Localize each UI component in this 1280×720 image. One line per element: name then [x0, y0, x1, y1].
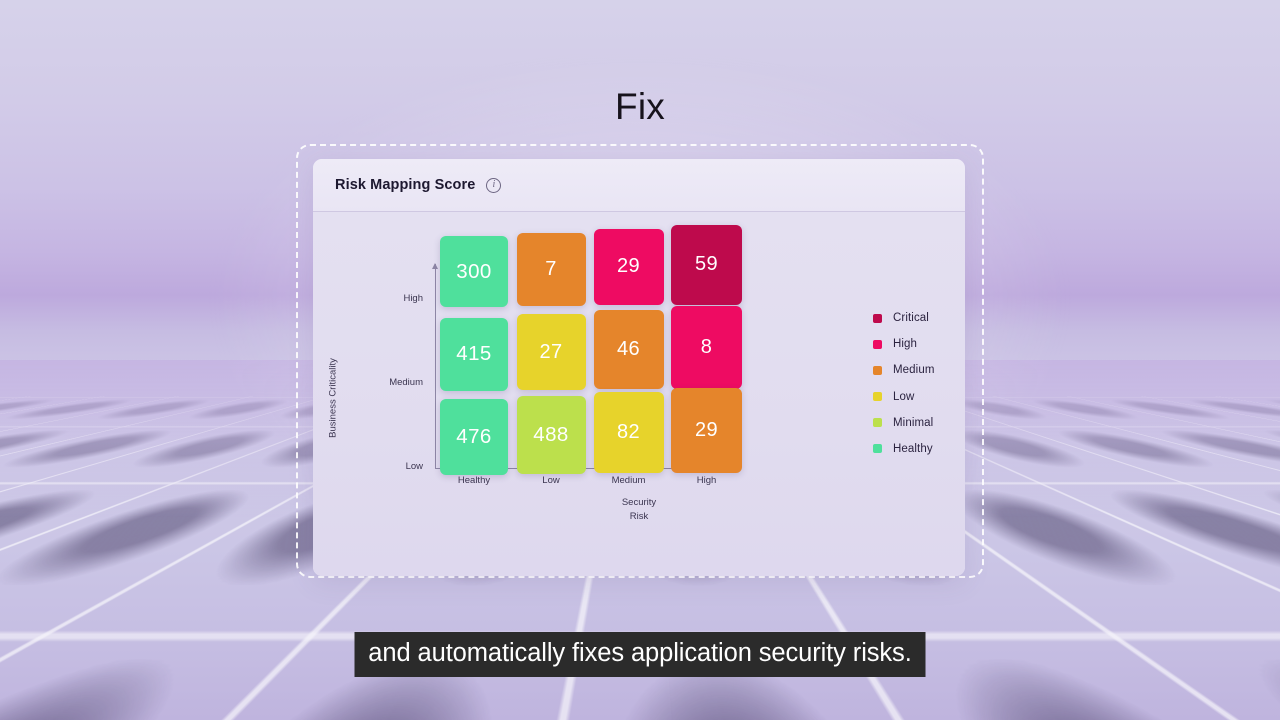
y-axis-line: [435, 264, 436, 468]
legend-item[interactable]: Medium: [873, 364, 935, 376]
legend-item-label: Low: [893, 391, 914, 403]
card-header: Risk Mapping Score i: [313, 159, 965, 212]
legend-swatch-icon: [873, 340, 882, 349]
heatmap-cell-value: 29: [695, 419, 718, 442]
legend-item[interactable]: Low: [873, 391, 935, 403]
heatmap-cell-value: 46: [617, 338, 640, 361]
legend-item[interactable]: Healthy: [873, 443, 935, 455]
x-axis-tick: High: [697, 475, 717, 486]
subtitle-caption: and automatically fixes application secu…: [354, 632, 925, 677]
x-axis-ticks: HealthyLowMediumHigh: [313, 475, 965, 491]
y-axis-title: Business Criticality: [328, 358, 339, 438]
heatmap-cell-value: 27: [539, 341, 562, 364]
heatmap-cell[interactable]: 27: [517, 314, 586, 390]
heatmap-cell[interactable]: 59: [671, 225, 742, 305]
heatmap-cell[interactable]: 476: [440, 399, 508, 475]
scene: Fix Risk Mapping Score i Business Critic…: [0, 0, 1280, 720]
heatmap-cell-value: 476: [456, 425, 491, 449]
x-axis-tick: Low: [542, 475, 559, 486]
heatmap-cell[interactable]: 82: [594, 392, 664, 474]
heatmap-cell-value: 59: [695, 253, 718, 276]
heatmap-cell[interactable]: 46: [594, 310, 664, 389]
card-title: Risk Mapping Score: [335, 177, 475, 193]
x-axis-title-line-1: Security: [622, 496, 656, 510]
card-body: Business Criticality HighMediumLow 30072…: [313, 212, 965, 576]
heatmap-cell[interactable]: 29: [594, 229, 664, 306]
legend-item[interactable]: High: [873, 338, 935, 350]
risk-mapping-card: Risk Mapping Score i Business Criticalit…: [313, 159, 965, 576]
heatmap-cell-value: 82: [617, 421, 640, 444]
heatmap-cell[interactable]: 415: [440, 318, 508, 392]
x-axis-tick: Medium: [612, 475, 646, 486]
heatmap-cell[interactable]: 29: [671, 388, 742, 473]
heatmap-cell-value: 7: [545, 258, 557, 281]
heatmap-cell-value: 488: [533, 423, 568, 447]
legend-item[interactable]: Minimal: [873, 417, 935, 429]
legend-swatch-icon: [873, 444, 882, 453]
heatmap-cell-value: 8: [701, 336, 713, 359]
legend-item-label: Critical: [893, 312, 929, 324]
heatmap-cell[interactable]: 7: [517, 233, 586, 307]
legend-item[interactable]: Critical: [873, 312, 935, 324]
legend-swatch-icon: [873, 366, 882, 375]
heatmap-cell-value: 29: [617, 255, 640, 278]
info-icon[interactable]: i: [486, 178, 501, 193]
heatmap-cell[interactable]: 300: [440, 236, 508, 307]
legend-item-label: Minimal: [893, 417, 933, 429]
legend-item-label: High: [893, 338, 917, 350]
legend-swatch-icon: [873, 392, 882, 401]
y-axis-ticks: HighMediumLow: [351, 212, 423, 576]
heatmap-cell-value: 300: [456, 260, 491, 284]
severity-legend: CriticalHighMediumLowMinimalHealthy: [873, 312, 935, 455]
x-axis-tick: Healthy: [458, 475, 490, 486]
y-axis-tick: Low: [406, 461, 423, 472]
x-axis-title: Security Risk: [622, 496, 656, 524]
page-headline: Fix: [0, 86, 1280, 128]
x-axis-title-line-2: Risk: [622, 510, 656, 524]
legend-item-label: Medium: [893, 364, 935, 376]
legend-item-label: Healthy: [893, 443, 933, 455]
y-axis-tick: High: [403, 293, 423, 304]
legend-swatch-icon: [873, 418, 882, 427]
heatmap-cell-value: 415: [456, 342, 491, 366]
y-axis-tick: Medium: [389, 377, 423, 388]
risk-heatmap-grid: 30072959415274684764888229: [440, 236, 730, 468]
heatmap-cell[interactable]: 8: [671, 306, 742, 389]
legend-swatch-icon: [873, 314, 882, 323]
heatmap-cell[interactable]: 488: [517, 396, 586, 475]
